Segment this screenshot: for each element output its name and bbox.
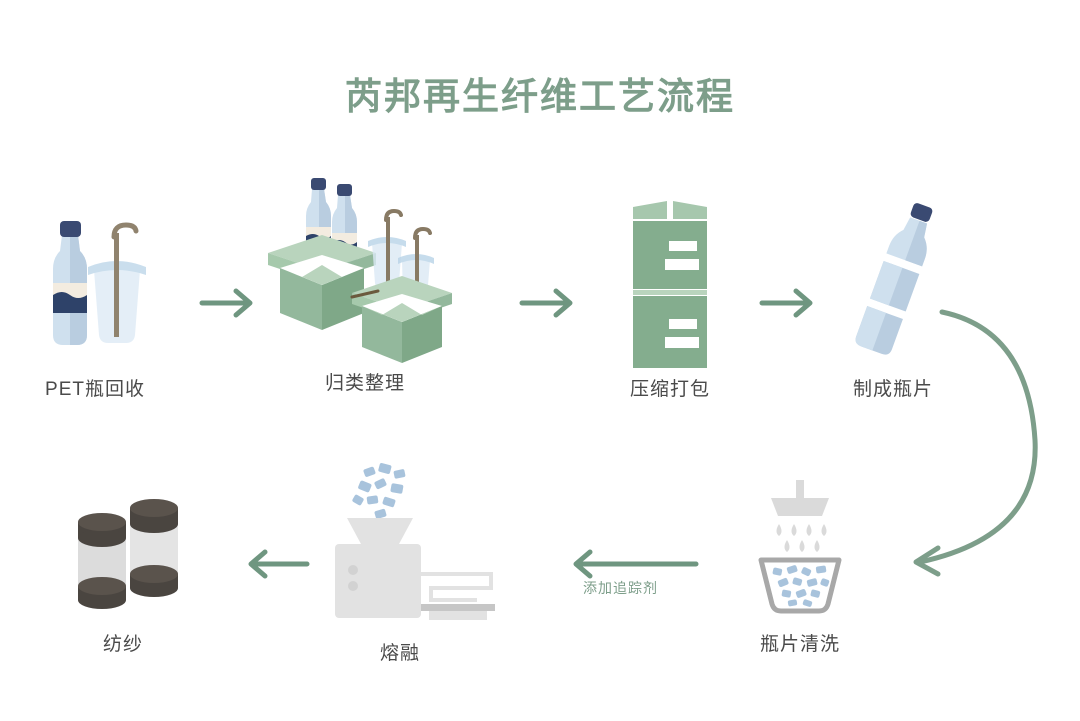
- step-melting[interactable]: 熔融: [295, 460, 505, 665]
- step-label: 纺纱: [18, 629, 228, 656]
- arrow-right-1: [198, 286, 268, 320]
- step-label: 熔融: [295, 638, 505, 665]
- arrow-left-1: [560, 548, 700, 580]
- step-compression-baling[interactable]: 压缩打包: [565, 195, 775, 401]
- tracer-additive-caption: 添加追踪剂: [583, 578, 658, 598]
- process-flow-diagram: 芮邦再生纤维工艺流程: [0, 0, 1080, 721]
- pet-bottle-cup-icon: [0, 195, 200, 370]
- step-label: 瓶片清洗: [695, 629, 905, 656]
- step-sorting[interactable]: 归类整理: [260, 165, 470, 395]
- bales-icon: [565, 195, 775, 370]
- arrow-left-2: [235, 548, 315, 580]
- extruder-machine-icon: [295, 460, 505, 620]
- step-label: 压缩打包: [565, 374, 775, 401]
- step-flake-washing[interactable]: 瓶片清洗: [695, 480, 905, 656]
- step-pet-bottle-recycling[interactable]: PET瓶回收: [0, 195, 200, 401]
- step-spinning[interactable]: 纺纱: [18, 480, 228, 656]
- arrow-curved-connector: [880, 290, 1080, 590]
- step-label: 归类整理: [260, 368, 470, 395]
- washing-basin-icon: [695, 480, 905, 615]
- page-title: 芮邦再生纤维工艺流程: [0, 66, 1080, 120]
- yarn-spools-icon: [18, 480, 228, 615]
- step-label: PET瓶回收: [0, 374, 200, 401]
- sorting-boxes-icon: [260, 165, 470, 370]
